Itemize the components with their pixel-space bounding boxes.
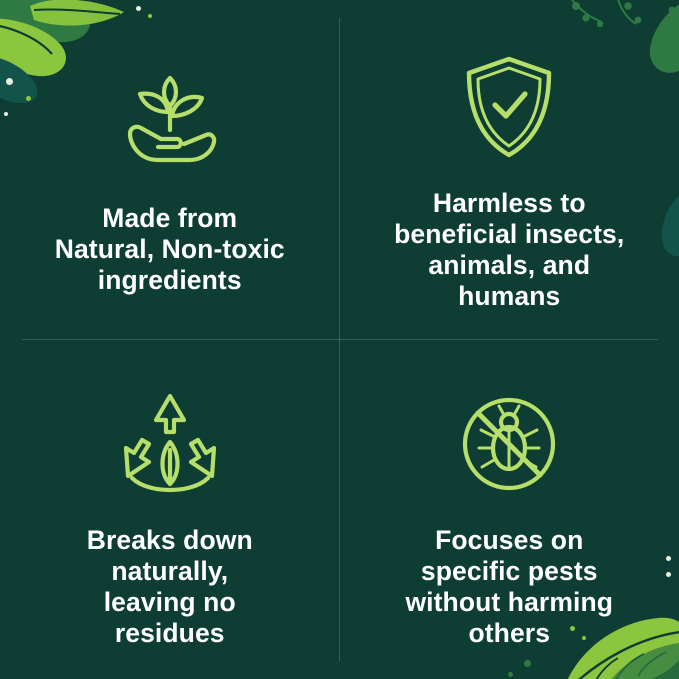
feature-caption: Made from Natural, Non-toxic ingredients <box>55 203 285 296</box>
hand-holding-plant-icon <box>110 67 230 177</box>
feature-caption: Breaks down naturally, leaving no residu… <box>87 525 253 649</box>
feature-natural-ingredients: Made from Natural, Non-toxic ingredients <box>0 0 340 340</box>
feature-caption: Focuses on specific pests without harmin… <box>405 525 613 649</box>
recycle-leaf-icon <box>110 389 230 499</box>
eco-features-infographic: Made from Natural, Non-toxic ingredients… <box>0 0 679 679</box>
feature-targeted: Focuses on specific pests without harmin… <box>340 340 679 679</box>
feature-harmless: Harmless to beneficial insects, animals,… <box>340 0 679 340</box>
features-grid: Made from Natural, Non-toxic ingredients… <box>0 0 679 679</box>
shield-check-icon <box>449 52 569 162</box>
feature-biodegradable: Breaks down naturally, leaving no residu… <box>0 340 340 679</box>
feature-caption: Harmless to beneficial insects, animals,… <box>394 188 624 312</box>
no-bug-icon <box>449 389 569 499</box>
